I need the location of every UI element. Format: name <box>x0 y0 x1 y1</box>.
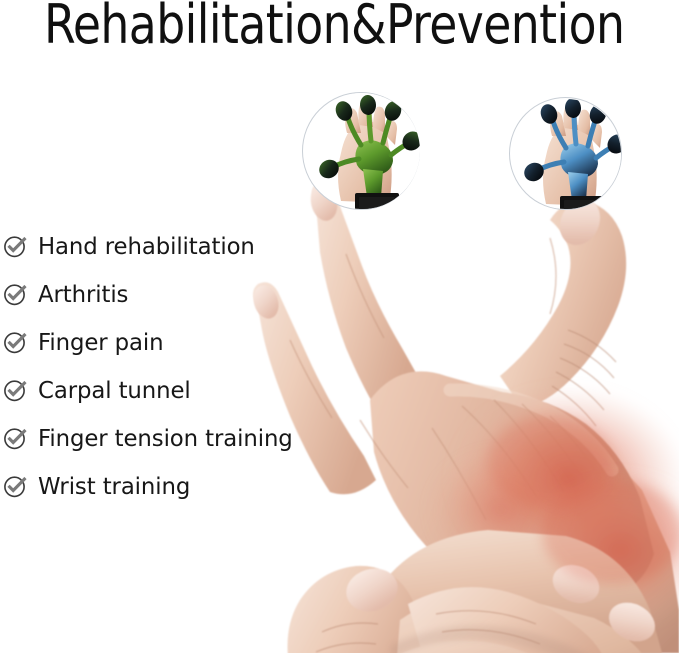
list-item-label: Hand rehabilitation <box>38 232 255 260</box>
list-item: Finger tension training <box>0 414 320 462</box>
list-item: Carpal tunnel <box>0 366 320 414</box>
product-badge-green <box>302 92 420 210</box>
check-circle-icon <box>3 378 28 403</box>
check-circle-icon <box>3 282 28 307</box>
list-item: Hand rehabilitation <box>0 222 320 270</box>
product-badge-blue <box>509 97 622 210</box>
feature-list: Hand rehabilitation Arthritis Finger pai… <box>0 222 320 510</box>
check-circle-icon <box>3 426 28 451</box>
promo-graphic-root: Rehabilitation&Prevention <box>0 0 679 653</box>
check-circle-icon <box>3 474 28 499</box>
list-item-label: Carpal tunnel <box>38 376 191 404</box>
list-item: Finger pain <box>0 318 320 366</box>
list-item-label: Wrist training <box>38 472 190 500</box>
list-item-label: Finger pain <box>38 328 164 356</box>
list-item-label: Finger tension training <box>38 424 293 452</box>
check-circle-icon <box>3 330 28 355</box>
page-title: Rehabilitation&Prevention <box>44 0 608 56</box>
list-item: Wrist training <box>0 462 320 510</box>
list-item-label: Arthritis <box>38 280 128 308</box>
check-circle-icon <box>3 234 28 259</box>
list-item: Arthritis <box>0 270 320 318</box>
